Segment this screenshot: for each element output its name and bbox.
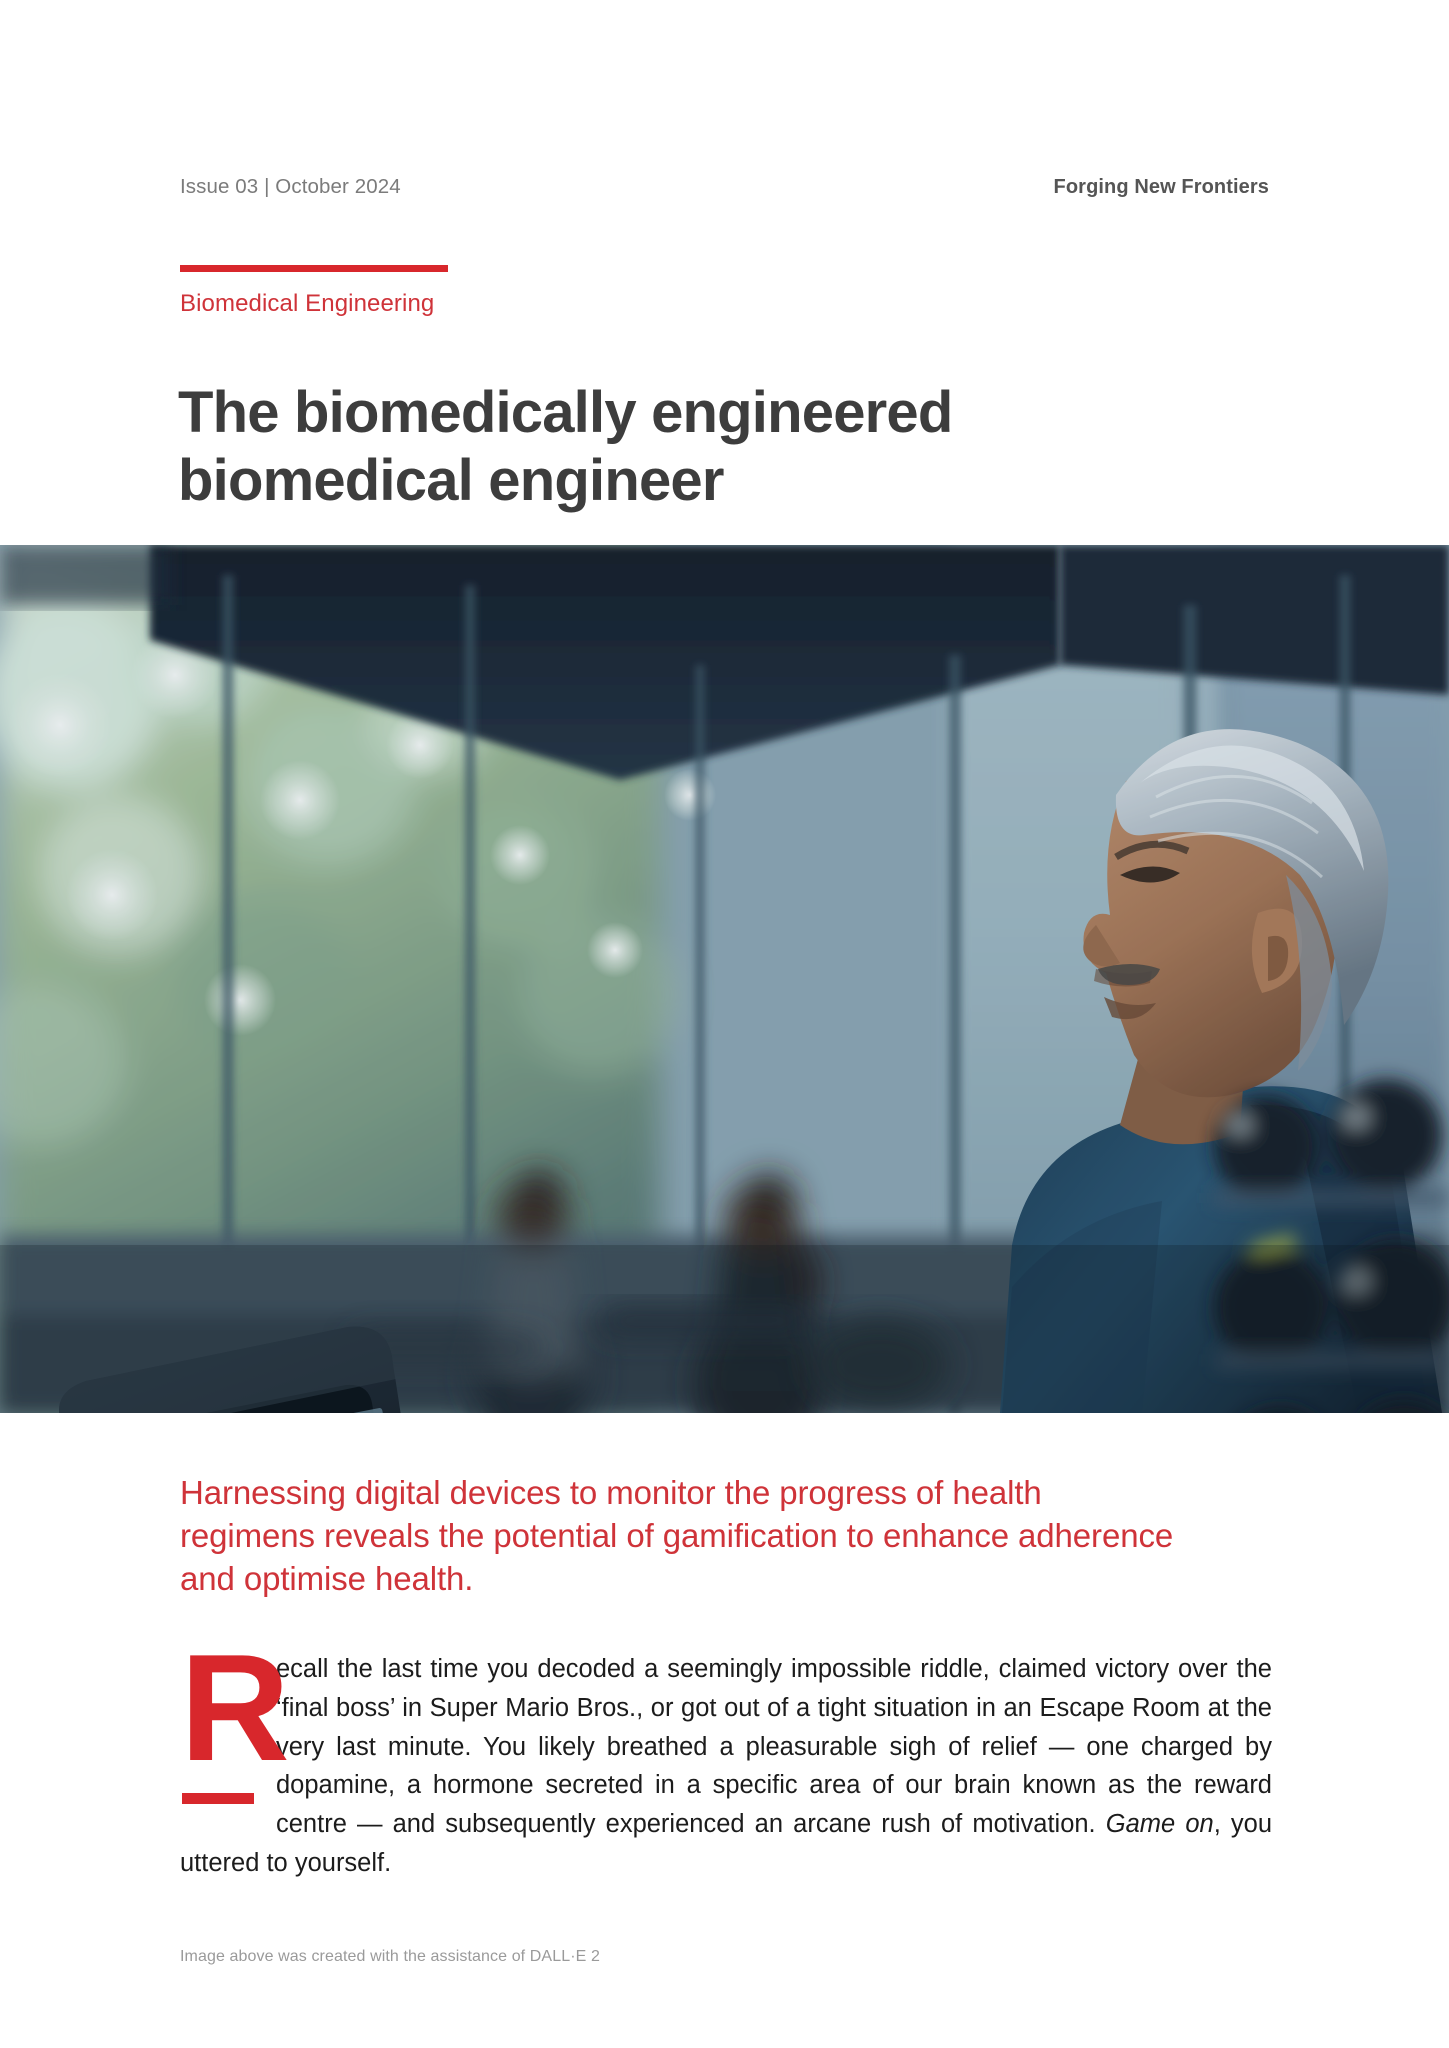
dropcap-underline [182, 1793, 254, 1804]
body-text-emphasis: Game on [1106, 1810, 1214, 1838]
publication-title: Forging New Frontiers [1054, 176, 1269, 199]
issue-label: Issue 03 | October 2024 [180, 175, 401, 199]
page-title: The biomedically engineered biomedical e… [178, 379, 1178, 516]
accent-rule [180, 265, 448, 272]
dropcap-group: R [180, 1650, 266, 1820]
image-credit-caption: Image above was created with the assista… [180, 1948, 600, 1966]
dropcap-letter: R [180, 1632, 290, 1784]
headline-line-1: The biomedically engineered [178, 380, 953, 445]
hero-illustration: ooo [0, 545, 1449, 1413]
magazine-page: Issue 03 | October 2024 Forging New Fron… [0, 0, 1449, 2048]
category-kicker: Biomedical Engineering [180, 290, 434, 318]
hero-image: ooo [0, 545, 1449, 1413]
article-body: R ecall the last time you decoded a seem… [180, 1650, 1272, 1883]
headline-line-2: biomedical engineer [178, 448, 724, 513]
article-deck: Harnessing digital devices to monitor th… [180, 1471, 1180, 1601]
running-head: Issue 03 | October 2024 Forging New Fron… [180, 175, 1269, 199]
